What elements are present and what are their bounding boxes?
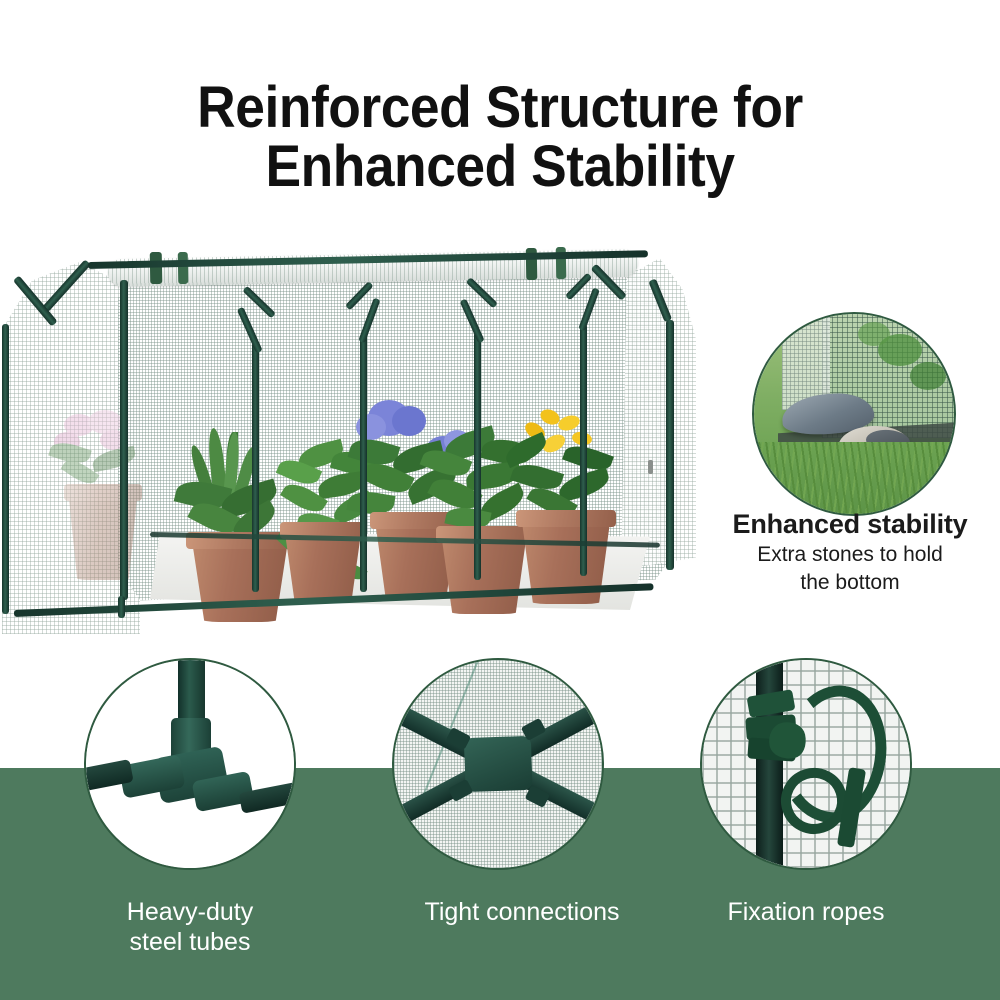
feature-photo-fixation-ropes: [700, 658, 912, 870]
enhanced-stability-photo: [752, 312, 956, 516]
feature-label-tight-connections: Tight connections: [362, 898, 682, 928]
feature-label-line-1: Tight connections: [362, 898, 682, 928]
frame-tube: [666, 320, 674, 570]
feature-label-fixation-ropes: Fixation ropes: [646, 898, 966, 928]
frame-tube: [118, 596, 125, 618]
stability-subtitle-1: Extra stones to hold: [700, 542, 1000, 567]
enhanced-stability-caption: Enhanced stability Extra stones to hold …: [700, 508, 1000, 595]
page-title: Reinforced Structure for Enhanced Stabil…: [0, 78, 1000, 196]
plant-pink-flower: [40, 410, 160, 590]
feature-label-line-1: Fixation ropes: [646, 898, 966, 928]
feature-photo-heavy-duty-steel-tubes: [84, 658, 296, 870]
frame-tube: [2, 324, 9, 614]
headline-line-2: Enhanced Stability: [40, 137, 960, 196]
door-frame-left: [248, 274, 378, 594]
feature-label-heavy-duty-steel-tubes: Heavy-duty steel tubes: [50, 898, 330, 957]
feature-photo-tight-connections: [392, 658, 604, 870]
stability-subtitle-2: the bottom: [700, 570, 1000, 595]
stability-title: Enhanced stability: [700, 508, 1000, 540]
frame-tube: [120, 280, 128, 600]
headline-line-1: Reinforced Structure for: [40, 78, 960, 137]
zipper-pull: [648, 460, 653, 474]
roll-tie: [150, 252, 163, 284]
rope-wrap: [746, 689, 795, 717]
marketing-image: Reinforced Structure for Enhanced Stabil…: [0, 0, 1000, 1000]
hero-greenhouse-image: [0, 232, 700, 642]
feature-label-line-1: Heavy-duty: [50, 898, 330, 928]
feature-label-line-2: steel tubes: [50, 928, 330, 958]
roll-tie: [178, 252, 189, 284]
